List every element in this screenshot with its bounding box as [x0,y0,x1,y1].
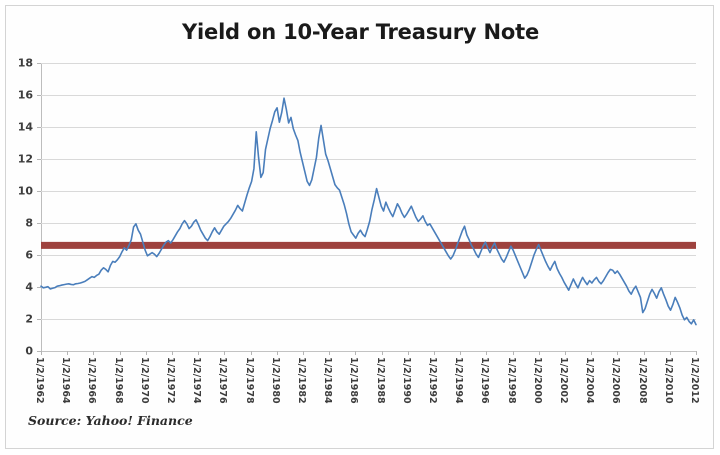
x-tick-label-1-2-1970: 1/2/1970 [139,357,150,404]
x-tick-mark-23 [644,351,645,355]
x-tick-mark-5 [172,351,173,355]
x-tick-mark-13 [382,351,383,355]
y-tick-label-18: 18 [18,57,33,70]
x-tick-label-1-2-2010: 1/2/2010 [663,357,674,404]
x-tick-mark-22 [617,351,618,355]
x-tick-label-1-2-1980: 1/2/1980 [270,357,281,404]
y-tick-label-4: 4 [25,281,33,294]
x-tick-label-1-2-2012: 1/2/2012 [689,357,700,404]
x-tick-label-1-2-1966: 1/2/1966 [86,357,97,404]
x-tick-label-1-2-2008: 1/2/2008 [637,357,648,404]
x-tick-mark-17 [486,351,487,355]
x-tick-mark-25 [696,351,697,355]
y-tick-label-14: 14 [18,121,33,134]
y-tick-label-2: 2 [25,313,33,326]
y-tick-label-16: 16 [18,89,33,102]
x-tick-label-1-2-2004: 1/2/2004 [584,357,595,404]
x-tick-label-1-2-1972: 1/2/1972 [165,357,176,404]
x-tick-label-1-2-1968: 1/2/1968 [113,357,124,404]
chart-frame: Yield on 10-Year Treasury Note 024681012… [5,5,714,449]
x-tick-mark-0 [41,351,42,355]
x-tick-label-1-2-2006: 1/2/2006 [610,357,621,404]
treasury-yield-series-line [41,63,696,351]
x-tick-label-1-2-1998: 1/2/1998 [506,357,517,404]
x-tick-mark-4 [146,351,147,355]
x-tick-label-1-2-1978: 1/2/1978 [244,357,255,404]
x-tick-label-1-2-1990: 1/2/1990 [401,357,412,404]
x-tick-mark-11 [329,351,330,355]
x-tick-mark-1 [67,351,68,355]
x-tick-label-1-2-1984: 1/2/1984 [322,357,333,404]
x-tick-label-1-2-2002: 1/2/2002 [558,357,569,404]
x-tick-mark-18 [513,351,514,355]
source-note: Source: Yahoo! Finance [28,413,193,428]
x-tick-mark-8 [251,351,252,355]
x-tick-mark-19 [539,351,540,355]
x-tick-mark-2 [93,351,94,355]
y-tick-label-6: 6 [25,249,33,262]
x-tick-label-1-2-1992: 1/2/1992 [427,357,438,404]
y-tick-label-12: 12 [18,153,33,166]
gridline-0 [41,351,696,352]
x-tick-label-1-2-1982: 1/2/1982 [296,357,307,404]
x-tick-mark-3 [120,351,121,355]
x-tick-label-1-2-1964: 1/2/1964 [60,357,71,404]
y-tick-label-0: 0 [25,345,33,358]
chart-screenshot: Yield on 10-Year Treasury Note 024681012… [0,0,720,455]
x-tick-mark-10 [303,351,304,355]
x-tick-mark-7 [224,351,225,355]
x-tick-label-1-2-1976: 1/2/1976 [217,357,228,404]
x-tick-label-1-2-1974: 1/2/1974 [191,357,202,404]
series-path-10-year-treasury-yield [41,98,696,324]
x-tick-label-1-2-1962: 1/2/1962 [34,357,45,404]
y-tick-label-10: 10 [18,185,33,198]
x-tick-label-1-2-1996: 1/2/1996 [479,357,490,404]
x-tick-mark-20 [565,351,566,355]
x-tick-mark-9 [277,351,278,355]
x-tick-mark-24 [670,351,671,355]
x-tick-label-1-2-1988: 1/2/1988 [375,357,386,404]
y-tick-label-8: 8 [25,217,33,230]
plot-area: 024681012141618 1/2/19621/2/19641/2/1966… [41,63,696,351]
x-tick-mark-12 [355,351,356,355]
x-tick-mark-14 [408,351,409,355]
x-tick-label-1-2-1994: 1/2/1994 [453,357,464,404]
x-tick-mark-21 [591,351,592,355]
x-tick-mark-15 [434,351,435,355]
x-tick-label-1-2-2000: 1/2/2000 [532,357,543,404]
page-title: Yield on 10-Year Treasury Note [6,20,715,44]
x-tick-mark-6 [198,351,199,355]
x-tick-label-1-2-1986: 1/2/1986 [348,357,359,404]
x-tick-mark-16 [460,351,461,355]
